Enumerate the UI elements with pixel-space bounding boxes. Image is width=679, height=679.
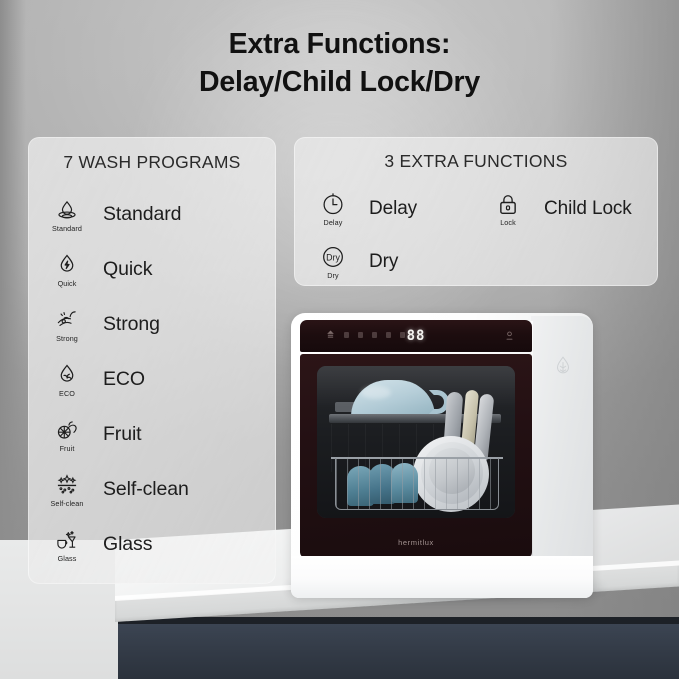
water-drop-bolt-icon <box>54 252 80 278</box>
panel-indicator-5[interactable] <box>400 332 405 338</box>
appliance-control-panel[interactable]: 88 <box>300 320 532 352</box>
panel-indicator-1[interactable] <box>344 332 349 338</box>
extra-functions-title: 3 EXTRA FUNCTIONS <box>295 151 657 172</box>
water-drop-ripple-icon <box>54 197 80 223</box>
program-item-standard: Standard Standard <box>29 187 275 242</box>
svg-text:Dry: Dry <box>326 252 340 262</box>
glass-cup-icon <box>54 527 80 553</box>
program-label-quick: Quick <box>103 258 152 281</box>
program-item-glass: Glass Glass <box>29 517 275 572</box>
wash-programs-title: 7 WASH PROGRAMS <box>29 152 275 173</box>
program-icon-wrap-quick: Quick <box>44 252 90 288</box>
panel-indicator-group[interactable] <box>326 330 405 339</box>
program-item-self-clean: Self-clean Self-clean <box>29 462 275 517</box>
panel-indicator-4[interactable] <box>386 332 391 338</box>
appliance-display: 88 <box>407 328 426 344</box>
water-drop-leaf-icon <box>54 362 80 388</box>
clock-delay-icon <box>320 191 346 217</box>
program-sub-quick: Quick <box>58 279 77 288</box>
brand-logo: hermitlux <box>300 538 532 547</box>
program-sub-self-clean: Self-clean <box>51 499 84 508</box>
program-icon-wrap-self-clean: Self-clean <box>44 472 90 508</box>
program-label-fruit: Fruit <box>103 423 142 446</box>
function-item-dry: Dry Dry Dry <box>305 235 480 288</box>
function-icon-wrap-dry: Dry Dry <box>310 244 356 280</box>
function-item-child-lock: Lock Child Lock <box>480 182 655 235</box>
program-icon-wrap-glass: Glass <box>44 527 90 563</box>
program-label-glass: Glass <box>103 533 152 556</box>
program-icon-wrap-fruit: Fruit <box>44 417 90 453</box>
function-label-dry: Dry <box>369 251 398 273</box>
program-item-quick: Quick Quick <box>29 242 275 297</box>
sparkle-clean-icon <box>54 472 80 498</box>
wash-programs-list: Standard Standard Quick Quick <box>29 187 275 572</box>
program-label-self-clean: Self-clean <box>103 478 189 501</box>
program-icon-wrap-standard: Standard <box>44 197 90 233</box>
power-icon[interactable] <box>505 331 514 341</box>
program-item-fruit: Fruit Fruit <box>29 407 275 462</box>
function-icon-wrap-delay: Delay <box>310 191 356 227</box>
function-sub-dry: Dry <box>327 271 338 280</box>
program-sub-glass: Glass <box>58 554 77 563</box>
program-label-strong: Strong <box>103 313 160 336</box>
function-icon-wrap-child-lock: Lock <box>485 191 531 227</box>
panel-indicator-2[interactable] <box>358 332 363 338</box>
program-icon-wrap-strong: Strong <box>44 307 90 343</box>
page-title: Extra Functions: Delay/Child Lock/Dry <box>0 26 679 101</box>
page-title-line-1: Extra Functions: <box>0 26 679 64</box>
program-sub-standard: Standard <box>52 224 82 233</box>
padlock-icon <box>495 191 521 217</box>
program-sub-fruit: Fruit <box>60 444 75 453</box>
function-sub-child-lock: Lock <box>500 218 516 227</box>
extra-functions-card: 3 EXTRA FUNCTIONS Delay Delay <box>294 137 658 286</box>
panel-indicator-3[interactable] <box>372 332 377 338</box>
cabinet-shadow-gap <box>118 617 679 624</box>
function-sub-delay: Delay <box>324 218 343 227</box>
program-sub-strong: Strong <box>56 334 78 343</box>
countertop-dishwasher: 88 <box>291 313 593 598</box>
fruit-icon <box>54 417 80 443</box>
product-marketing-scene: Extra Functions: Delay/Child Lock/Dry 7 … <box>0 0 679 679</box>
extra-functions-list: Delay Delay Lock Child Lock <box>295 182 657 288</box>
function-item-delay: Delay Delay <box>305 182 480 235</box>
function-label-delay: Delay <box>369 198 417 220</box>
appliance-base <box>291 556 593 598</box>
program-label-standard: Standard <box>103 203 181 226</box>
program-select-icon[interactable] <box>326 330 335 339</box>
water-leaf-emblem-icon <box>553 355 573 381</box>
wash-programs-card: 7 WASH PROGRAMS Standard Standard <box>28 137 276 584</box>
interior-lower-rack <box>335 458 499 510</box>
kitchen-cabinet <box>118 623 679 679</box>
dry-circle-icon: Dry <box>320 244 346 270</box>
program-sub-eco: ECO <box>59 389 75 398</box>
spray-jet-icon <box>54 307 80 333</box>
appliance-door-window <box>317 366 515 518</box>
program-icon-wrap-eco: ECO <box>44 362 90 398</box>
page-title-line-2: Delay/Child Lock/Dry <box>0 64 679 102</box>
program-item-strong: Strong Strong <box>29 297 275 352</box>
appliance-door[interactable]: hermitlux <box>300 354 532 558</box>
program-label-eco: ECO <box>103 368 145 391</box>
window-glass-reflection <box>317 366 515 408</box>
program-item-eco: ECO ECO <box>29 352 275 407</box>
function-label-child-lock: Child Lock <box>544 198 632 220</box>
